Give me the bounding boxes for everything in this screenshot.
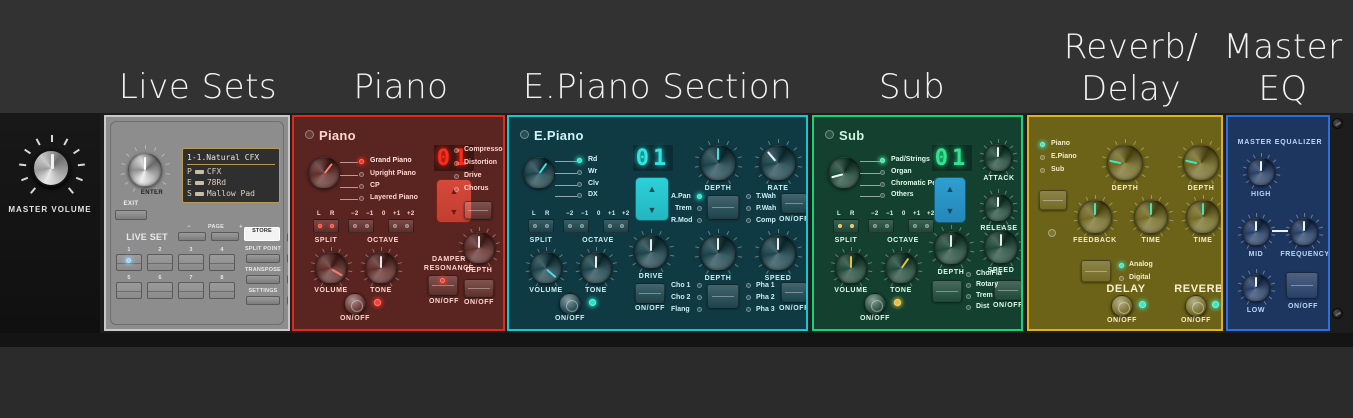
sub-voice-pad-strings[interactable]: Pad/Strings [891,156,930,163]
tick-mark [1211,180,1214,184]
octave-mark: −1 [886,211,894,217]
rv-reverb-onoff-button[interactable] [1185,295,1207,317]
octave-mark: +2 [622,211,630,217]
tick-mark [459,250,463,252]
tick-mark [1286,234,1290,236]
octave-dot [620,224,624,228]
tick-mark [1019,241,1023,243]
tick-mark [134,147,137,151]
epiano-mod-twah[interactable]: T.Wah [756,193,776,200]
voice-line [340,162,358,163]
piano-octave-up-pad[interactable] [388,219,414,233]
piano-depth-label: DEPTH [458,267,500,274]
tick-mark [983,166,987,169]
sub-release-knob[interactable] [984,194,1012,222]
tick-mark [63,138,68,145]
tick-mark [1295,245,1298,249]
screw-icon [1332,308,1343,319]
master-eq-panel[interactable]: MASTER EQUALIZER HIGH MID FREQUENCY LOW … [1226,115,1330,331]
tick-mark [666,237,670,240]
tick-mark [395,277,399,280]
piano-effect-drive[interactable]: Drive [464,172,482,179]
tick-mark [738,256,742,258]
eq-low-knob[interactable] [1242,274,1270,302]
tick-mark [1268,275,1272,278]
tick-mark [161,154,165,157]
octave-mark: 0 [382,211,386,217]
tick-mark [1142,174,1146,177]
epiano-octave-up-pad[interactable] [603,219,629,233]
tick-mark [708,141,711,145]
tick-mark [1140,232,1143,236]
rv-delay-time-label: TIME [1129,237,1173,244]
epiano-voice-rd[interactable]: Rd [588,156,597,163]
octave-dot [608,224,612,228]
epiano-mod-led [697,194,702,199]
sub-effect-dist[interactable]: Dist [976,303,989,310]
epiano-octave-label: OCTAVE [571,237,625,244]
tune-button[interactable] [287,254,290,263]
tick-mark [1264,301,1267,305]
rv-delay-onoff-button[interactable] [1111,295,1133,317]
page-minus-button[interactable] [178,232,206,241]
tick-mark [1217,202,1221,205]
tick-mark [798,166,802,168]
tick-mark [493,257,497,260]
eq-frequency-knob[interactable] [1290,218,1318,246]
tick-mark [1221,220,1223,222]
epiano-cho1[interactable]: Cho 1 [671,282,690,289]
panel-lock-button[interactable] [287,233,290,242]
octave-mark: 0 [597,211,601,217]
live-set-button-2[interactable] [147,254,173,271]
epiano-mod-apan[interactable]: A.Pan [671,193,691,200]
piano-octave-label: OCTAVE [356,237,410,244]
epiano-mod-rmod[interactable]: R.Mod [671,217,692,224]
epiano-display: 01 [633,145,673,171]
lcd-bar-icon [195,170,204,174]
sub-onoff-label: ON/OFF [855,315,895,322]
tick-mark [1183,147,1187,150]
sub-effect-led [966,294,971,299]
epiano-section-panel[interactable]: E.Piano Rd Wr Clv DX 01 ▲ ▼ DEPTH RATE A… [507,115,808,331]
epiano-mod-pwah[interactable]: P.Wah [756,205,776,212]
tick-mark [778,139,779,143]
tick-mark [728,270,731,274]
epiano-pha1[interactable]: Pha 1 [756,282,775,289]
live-set-label: LIVE SET [116,232,178,242]
split-dot [533,224,537,228]
epiano-onoff-button[interactable] [559,293,581,315]
sub-volume-knob[interactable] [835,252,867,284]
octave-mark: +2 [927,211,935,217]
split-point-button[interactable] [246,254,280,263]
epiano-flang[interactable]: Flang [671,306,690,313]
piano-voice-grand-piano[interactable]: Grand Piano [370,157,412,164]
tick-mark [1159,197,1162,201]
piano-split-label: SPLIT [308,237,344,244]
rv-target-sub[interactable]: Sub [1051,166,1064,173]
tick-mark [1084,232,1087,236]
piano-effect-chorus[interactable]: Chorus [464,185,489,192]
sub-effect-onoff-label: ON/OFF [990,302,1023,309]
tick-mark [778,229,779,233]
sub-voice-led [880,170,885,175]
epiano-pha3[interactable]: Pha 3 [756,306,775,313]
tick-mark [1145,166,1149,168]
epiano-tone-pointer [595,256,597,268]
octave-mark: +1 [913,211,921,217]
piano-voice-cp[interactable]: CP [370,182,380,189]
tick-mark [726,141,729,145]
split-dot [850,224,854,228]
tick-mark [915,277,919,280]
tick-mark [980,210,984,212]
piano-damper-onoff-label: ON/OFF [424,298,464,305]
epiano-voice-wr[interactable]: Wr [588,168,597,175]
piano-section-title: Piano [319,128,356,143]
sub-section-indicator [825,130,834,139]
tick-mark [834,277,838,280]
voice-line [860,196,880,197]
tick-mark [390,282,393,286]
epiano-section-indicator [520,130,529,139]
sub-voice-dial[interactable] [828,157,860,189]
tick-mark [659,231,662,235]
piano-effect-led [454,187,459,192]
piano-tone-knob[interactable] [365,252,397,284]
sub-effect-onoff-button[interactable] [994,280,1022,300]
tick-mark [1221,211,1223,213]
piano-depth-knob[interactable] [463,232,495,264]
live-set-button-8[interactable] [209,282,235,299]
eq-mid-knob[interactable] [1242,218,1270,246]
tick-mark [1130,220,1134,222]
piano-voice-layered-piano[interactable]: Layered Piano [370,194,418,201]
sub-section-panel[interactable]: Sub Pad/Strings Organ Chromatic Perc. Ot… [812,115,1023,331]
sub-onoff-button[interactable] [864,293,886,315]
tick-mark [667,262,671,265]
epiano-mod-led [746,218,751,223]
tick-mark [563,270,567,272]
piano-voice-led [359,196,364,201]
sub-updown-rocker[interactable]: ▲ ▼ [934,177,966,223]
tick-mark [394,254,398,257]
tick-mark [1241,240,1245,243]
live-set-button-3[interactable] [178,254,204,271]
rv-delay-depth-label: DEPTH [1101,185,1149,192]
tick-mark [121,173,125,175]
sub-effect-cho-fla[interactable]: Cho/Fla [976,270,1002,277]
tick-mark [934,233,938,236]
sub-depth-knob[interactable] [934,231,968,265]
sub-voice-others[interactable]: Others [891,191,914,198]
epiano-depth2-label: DEPTH [694,275,742,282]
rv-target-select-button[interactable] [1039,190,1067,210]
voice-line [555,196,577,197]
tick-mark [492,234,496,237]
epiano-tone-label: TONE [575,287,617,294]
tick-mark [881,270,885,272]
piano-effect-distortion[interactable]: Distortion [464,159,497,166]
piano-effect-compressor[interactable]: Compressor [464,146,505,153]
octave-mark: +1 [393,211,401,217]
tick-mark [766,180,769,184]
live-set-num-label: 2 [147,247,173,253]
piano-section-panel[interactable]: Piano Grand Piano Upright Piano CP Layer… [292,115,505,331]
tick-mark [1107,147,1111,150]
tick-mark [496,250,500,252]
epiano-cho-onoff-button[interactable] [781,282,807,302]
piano-volume-label: VOLUME [310,287,352,294]
menu-button[interactable] [287,296,290,305]
piano-voice-upright-piano[interactable]: Upright Piano [370,170,416,177]
epiano-octave-down-pad[interactable] [563,219,589,233]
sub-attack-knob[interactable] [984,144,1012,172]
tick-mark [1013,160,1017,162]
settings-label: SETTINGS [242,288,284,294]
epiano-pha2[interactable]: Pha 2 [756,294,775,301]
tick-mark [695,166,699,168]
tick-mark [738,246,742,248]
tick-mark [1010,145,1014,148]
data-dial[interactable] [128,153,162,187]
sub-speed-pointer [1000,234,1002,246]
octave-dot [925,224,929,228]
voice-line [860,185,880,186]
tick-mark [788,180,791,184]
epiano-mod-trem[interactable]: Trem [675,205,692,212]
epiano-voice-dial[interactable] [523,157,555,189]
sub-octave-up-pad[interactable] [908,219,934,233]
split-dot [545,224,549,228]
rv-target-epiano[interactable]: E.Piano [1051,153,1077,160]
split-point-label: SPLIT POINT [242,246,284,252]
chevron-down-icon: ▼ [648,205,657,215]
tick-mark [795,264,799,267]
master-volume-knob[interactable] [32,149,70,187]
tick-mark [1218,174,1222,177]
tick-mark [1218,227,1222,230]
epiano-section-title: E.Piano [534,128,584,143]
eq-high-pointer [1260,161,1262,171]
piano-damper-led [440,278,445,283]
tick-mark [706,180,709,184]
rv-mode-analog[interactable]: Analog [1129,261,1153,268]
piano-effect-onoff-button[interactable] [464,279,494,297]
rv-mode-digital[interactable]: Digital [1129,274,1150,281]
live-set-button-5[interactable] [116,282,142,299]
epiano-cho-led [697,295,702,300]
touch-button[interactable] [287,275,290,284]
epiano-voice-dx[interactable]: DX [588,191,598,198]
rv-reverb-depth-knob[interactable] [1183,145,1219,181]
sub-tone-knob[interactable] [885,252,917,284]
tick-mark [1271,227,1275,229]
tick-mark [1113,220,1117,222]
tick-mark [726,231,729,235]
rv-reverb-onoff-led [1212,301,1219,308]
epiano-voice-dial-pointer [539,163,548,174]
epiano-mod-led [697,206,702,211]
tick-mark [891,282,894,286]
piano-onoff-button[interactable] [344,293,366,315]
rv-reverb-time-knob[interactable] [1186,200,1220,234]
tick-mark [1209,141,1212,145]
tick-mark [980,250,984,252]
rv-mode-select-button[interactable] [1081,260,1111,282]
epiano-depth1-knob[interactable] [700,145,736,181]
live-set-button-6[interactable] [147,282,173,299]
piano-effect-select-button[interactable] [464,201,492,219]
tick-mark [311,270,315,272]
rv-reverb-depth-label: DEPTH [1177,185,1223,192]
epiano-tone-knob[interactable] [580,252,612,284]
eq-high-knob[interactable] [1247,158,1275,186]
tick-mark [1095,195,1096,199]
page-plus-button[interactable] [211,232,239,241]
instrument-bottom-bar [0,333,1353,418]
live-sets-panel[interactable]: ENTER EXIT 1-1.Natural CFX P CFX E 78Rd … [104,115,290,331]
octave-mark: 0 [902,211,906,217]
tick-mark [1241,296,1245,299]
epiano-voice-led [577,182,582,187]
live-set-button-4[interactable] [209,254,235,271]
tick-mark [30,187,36,194]
tick-mark [68,187,74,194]
rv-feedback-knob[interactable] [1078,200,1112,234]
page-label: PAGE [201,224,231,230]
tick-mark [1019,250,1023,252]
tick-mark [795,174,799,177]
octave-dot [568,224,572,228]
rv-delay-depth-knob[interactable] [1107,145,1143,181]
lcd-row-key: S [187,188,192,199]
rv-target-piano[interactable]: Piano [1051,140,1070,147]
rv-mode-led [1119,276,1124,281]
piano-voice-dial[interactable] [308,157,340,189]
chevron-down-icon: ▼ [450,207,459,217]
tick-mark [980,160,984,162]
tick-mark [1135,180,1138,184]
sub-effect-trem[interactable]: Trem [976,292,993,299]
tick-mark [1256,213,1257,217]
eq-mid-label: MID [1234,251,1278,258]
tick-mark [331,247,332,251]
rv-reverb-title: REVERB [1169,283,1223,295]
tick-mark [759,174,763,177]
sub-split-pad[interactable] [833,219,859,233]
eq-mid-pointer [1255,221,1257,231]
live-set-button-7[interactable] [178,282,204,299]
epiano-mod-onoff-button[interactable] [781,193,807,213]
tick-mark [884,277,888,280]
sub-voice-organ[interactable]: Organ [891,168,912,175]
tick-mark [613,270,617,272]
epiano-cho2[interactable]: Cho 2 [671,294,690,301]
eq-onoff-button[interactable] [1286,272,1318,298]
tick-mark [1319,227,1323,229]
rv-target-led [1040,142,1045,147]
settings-button[interactable] [246,296,280,305]
epiano-updown-rocker[interactable]: ▲ ▼ [635,177,669,221]
epiano-drive-knob[interactable] [634,235,668,269]
tick-mark [1103,197,1106,201]
piano-split-pad[interactable] [313,219,339,233]
epiano-onoff-led [589,299,596,306]
sub-onoff-led [894,299,901,306]
sub-attack-pointer [997,147,999,157]
tick-mark [1010,262,1013,266]
live-set-num-label: 8 [209,275,235,281]
epiano-cho-select-button[interactable] [707,284,739,308]
tick-mark [579,277,583,280]
tick-mark [1243,174,1247,176]
tick-mark [563,262,567,264]
reverb-delay-panel[interactable]: Piano E.Piano Sub DEPTH FEEDBACK TIME An… [1027,115,1223,331]
tick-mark [496,242,500,244]
sub-effect-select-button[interactable] [932,280,962,302]
piano-effect-led [454,174,459,179]
epiano-rate-knob[interactable] [760,145,796,181]
tick-mark [1319,234,1323,236]
tick-mark [793,237,797,240]
epiano-drive-onoff-button[interactable] [635,283,665,303]
piano-volume-knob[interactable] [315,252,347,284]
tick-mark [983,216,987,219]
rv-delay-title: DELAY [1091,283,1161,295]
transpose-button[interactable] [246,275,280,284]
epiano-speed-knob[interactable] [760,235,796,271]
tick-mark [1102,166,1106,168]
tick-mark [1269,185,1272,189]
epiano-depth2-knob[interactable] [700,235,736,271]
sub-speed-knob[interactable] [984,230,1018,264]
header-epiano-section: E.Piano Section [505,66,810,108]
voice-line [340,187,358,188]
rv-delay-time-knob[interactable] [1134,200,1168,234]
piano-octave-down-pad[interactable] [348,219,374,233]
tick-mark [1252,185,1255,189]
tick-mark [868,262,872,264]
tick-mark [51,135,53,142]
sub-release-pointer [997,197,999,207]
epiano-mod-select-button[interactable] [707,195,739,219]
tick-mark [700,237,704,240]
tick-mark [966,233,970,236]
tick-mark [1221,166,1223,168]
epiano-mod-comp[interactable]: Comp [756,217,776,224]
tick-mark [1271,283,1275,285]
tick-mark [1271,234,1275,236]
tick-mark [798,156,802,158]
epiano-depth2-pointer [717,238,719,250]
voice-line [555,185,577,186]
sub-octave-down-pad[interactable] [868,219,894,233]
epiano-voice-clv[interactable]: Clv [588,180,599,187]
lcd-row-value: Mallow Pad [207,188,255,199]
voice-line [340,175,358,176]
tick-mark [1001,225,1002,229]
tick-mark [1151,195,1152,199]
tick-mark [388,249,391,253]
tick-mark [381,247,382,251]
tick-mark [1247,245,1250,249]
epiano-split-pad[interactable] [528,219,554,233]
exit-button[interactable] [115,210,147,220]
epiano-volume-knob[interactable] [530,252,562,284]
tick-mark [793,147,797,150]
